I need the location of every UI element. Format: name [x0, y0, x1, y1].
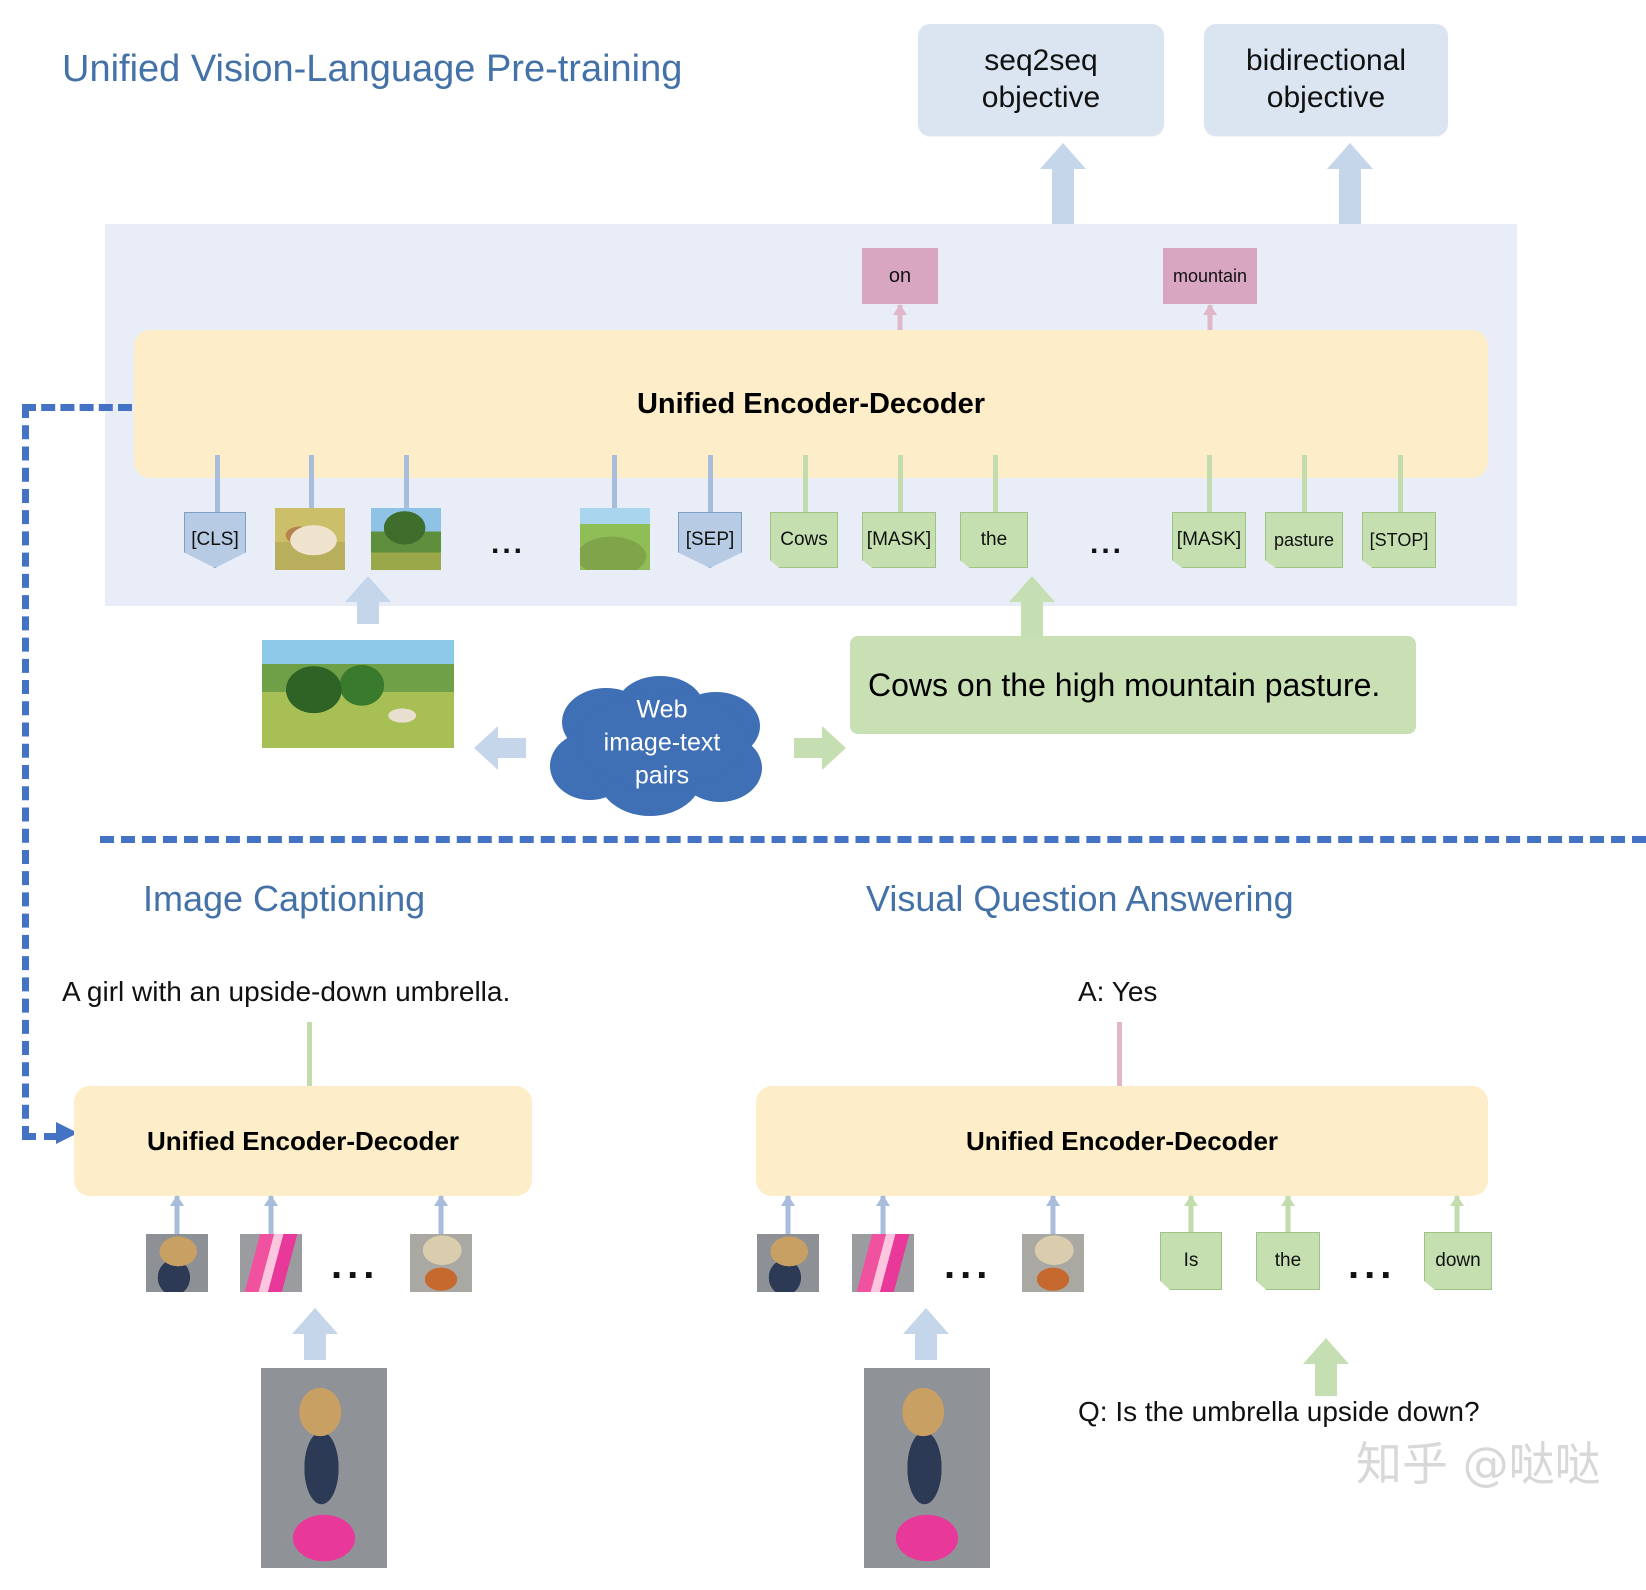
token-connector — [708, 455, 713, 517]
vqa-source-image — [864, 1368, 990, 1568]
page-title: Unified Vision-Language Pre-training — [62, 48, 682, 91]
input-token-mask-1: [MASK] — [862, 512, 936, 568]
captioning-encoder-label: Unified Encoder-Decoder — [147, 1126, 459, 1157]
vqa-title: Visual Question Answering — [866, 878, 1294, 920]
input-token-image-patch-hill — [580, 508, 650, 570]
token-connector — [803, 455, 808, 517]
captioning-image-patch-pot — [410, 1234, 472, 1292]
section-divider-dashed — [100, 836, 1646, 843]
seq2seq-objective-line2: objective — [982, 80, 1100, 117]
input-token-image-patch-tree — [371, 508, 441, 570]
captioning-encoder-decoder: Unified Encoder-Decoder — [74, 1086, 532, 1196]
vqa-question-text: Q: Is the umbrella upside down? — [1078, 1396, 1480, 1428]
arrow-to-bidirectional-objective — [1327, 143, 1373, 225]
vqa-text-token-the: the — [1256, 1232, 1320, 1290]
arrow-vqa-question — [1302, 1338, 1350, 1396]
predicted-word-mountain: mountain — [1163, 248, 1257, 304]
captioning-image-patch-girl — [146, 1234, 208, 1292]
token-connector — [993, 455, 998, 517]
arrow-image-to-tokens — [344, 576, 392, 624]
input-token-pasture: pasture — [1265, 512, 1343, 568]
feedback-path-vertical — [22, 404, 29, 1140]
pretrain-encoder-label: Unified Encoder-Decoder — [637, 388, 985, 421]
vqa-encoder-decoder: Unified Encoder-Decoder — [756, 1086, 1488, 1196]
input-token-image-patch-cow — [275, 508, 345, 570]
vqa-answer-text: A: Yes — [1078, 976, 1157, 1008]
arrow-cloud-to-caption — [790, 718, 850, 778]
cloud-line-2: image-text — [540, 727, 784, 760]
cloud-line-3: pairs — [540, 760, 784, 793]
vqa-image-patch-umbrella — [852, 1234, 914, 1292]
arrow-vqa-source-image — [902, 1308, 950, 1360]
pretrain-source-image — [262, 640, 454, 748]
vqa-image-patch-girl — [757, 1234, 819, 1292]
bidirectional-objective-box: bidirectional objective — [1204, 24, 1448, 136]
input-token-cows: Cows — [770, 512, 838, 568]
predicted-word-on: on — [862, 248, 938, 304]
arrow-caption-to-tokens — [1008, 576, 1056, 636]
arrow-to-seq2seq-objective — [1040, 143, 1086, 225]
input-token-stop: [STOP] — [1362, 512, 1436, 568]
token-connector — [1398, 455, 1403, 517]
arrow-captioning-source-image — [291, 1308, 339, 1360]
pretrain-encoder-decoder: Unified Encoder-Decoder — [134, 330, 1488, 478]
feedback-path-top — [22, 404, 132, 411]
bidirectional-objective-line1: bidirectional — [1246, 43, 1406, 80]
seq2seq-objective-box: seq2seq objective — [918, 24, 1164, 136]
captioning-source-image — [261, 1368, 387, 1568]
vqa-encoder-label: Unified Encoder-Decoder — [966, 1126, 1278, 1157]
image-captioning-title: Image Captioning — [143, 878, 425, 920]
input-token-the: the — [960, 512, 1028, 568]
token-connector — [215, 455, 220, 517]
token-connector — [1207, 455, 1212, 517]
web-image-text-pairs-cloud: Web image-text pairs — [540, 668, 784, 818]
cloud-label: Web image-text pairs — [540, 694, 784, 793]
token-connector — [1302, 455, 1307, 517]
input-token-ellipsis-image: ... — [491, 527, 525, 561]
vqa-text-token-is: Is — [1160, 1232, 1222, 1290]
vqa-image-token-ellipsis: ... — [944, 1243, 992, 1288]
input-token-mask-2: [MASK] — [1172, 512, 1246, 568]
vqa-text-token-ellipsis: ... — [1348, 1243, 1396, 1288]
arrow-cloud-to-image — [470, 718, 530, 778]
bidirectional-objective-line2: objective — [1246, 80, 1406, 117]
vqa-answer-connector — [1117, 1022, 1122, 1094]
vqa-image-patch-pot — [1022, 1234, 1084, 1292]
seq2seq-objective-line1: seq2seq — [982, 43, 1100, 80]
captioning-image-patch-umbrella — [240, 1234, 302, 1292]
input-token-ellipsis-text: ... — [1090, 527, 1124, 561]
watermark: 知乎 @哒哒 — [1356, 1428, 1601, 1494]
captioning-output-text: A girl with an upside-down umbrella. — [62, 976, 510, 1008]
cloud-line-1: Web — [540, 694, 784, 727]
captioning-output-connector — [307, 1022, 312, 1094]
pretrain-caption-box: Cows on the high mountain pasture. — [850, 636, 1416, 734]
captioning-token-ellipsis: ... — [331, 1243, 379, 1288]
token-connector — [898, 455, 903, 517]
vqa-text-token-down: down — [1424, 1232, 1492, 1290]
